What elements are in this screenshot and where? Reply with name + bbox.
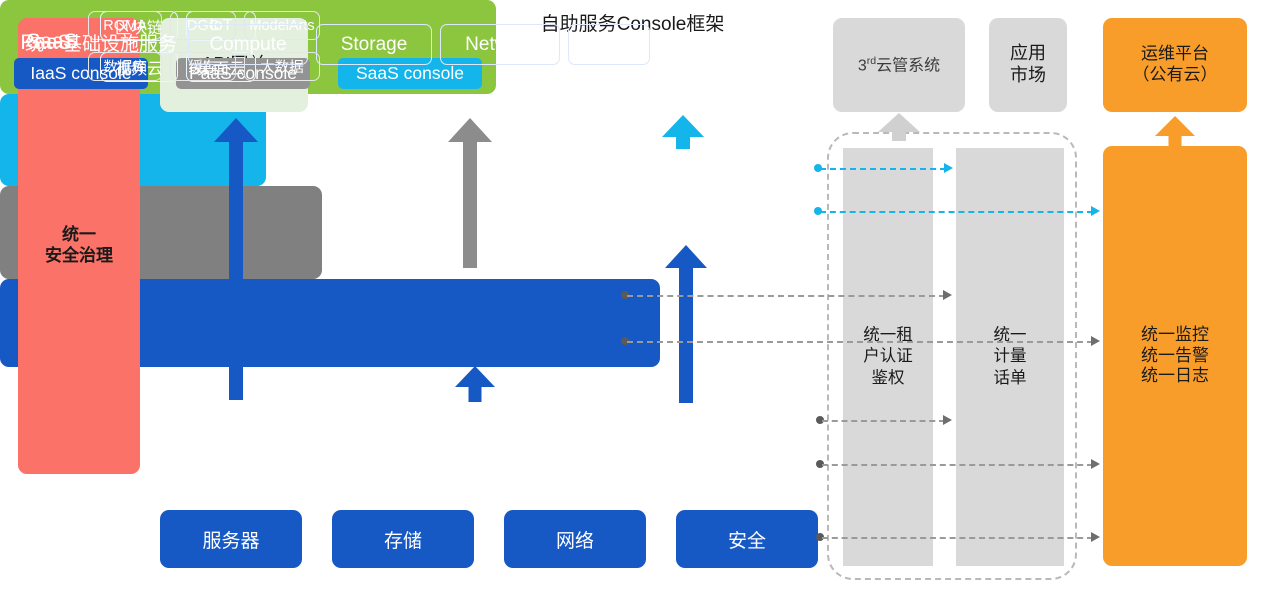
third-party-suffix: 云管系统 (876, 57, 940, 74)
metering-line2: 计量 (994, 346, 1027, 367)
resource-box-security: 安全 (676, 510, 818, 568)
connector-head-infra-ops (1091, 459, 1100, 469)
arrow-saas-to-console (662, 115, 704, 149)
arrow-infra-to-saas (665, 245, 707, 403)
resource-box-storage: 存储 (332, 510, 474, 568)
resource-security-label: 安全 (728, 526, 766, 553)
infra-chip-network-label: Network (465, 34, 535, 56)
ops-platform-public-cloud-box: 运维平台 （公有云） (1103, 18, 1247, 112)
resource-box-network: 网络 (504, 510, 646, 568)
connector-saas-to-metering (820, 168, 946, 170)
third-party-cloud-mgmt-label: 3rd云管系统 (858, 55, 940, 76)
paas-chip-database-label: 数据库 (103, 56, 147, 77)
arrow-infra-to-paas (455, 366, 495, 402)
connector-infra-to-auth (822, 420, 945, 422)
infra-chip-compute-label: Compute (209, 34, 286, 56)
resource-network-label: 网络 (556, 526, 594, 553)
ops-panel-line2: 统一告警 (1141, 346, 1209, 367)
metering-line1: 统一 (994, 325, 1027, 346)
paas-chip-database[interactable]: 数据库 (88, 52, 162, 81)
infra-chip-cce-label: CCE (589, 34, 629, 56)
connector-resources-to-ops (822, 537, 1093, 539)
saas-console-label: SaaS console (356, 63, 464, 84)
infra-chip-compute[interactable]: Compute (188, 24, 308, 65)
tenant-auth-line2: 户认证 (863, 346, 913, 367)
connector-head-resources-ops (1091, 532, 1100, 542)
resource-server-label: 服务器 (202, 526, 259, 553)
connector-head-saas-ops (1091, 206, 1100, 216)
infra-chip-storage-label: Storage (341, 34, 408, 56)
security-governance-line2: 安全治理 (45, 246, 113, 267)
resource-box-server: 服务器 (160, 510, 302, 568)
arrow-platform-to-third-cloud (878, 113, 920, 141)
app-market-line1: 应用 (1010, 43, 1046, 65)
ops-panel-line3: 统一日志 (1141, 366, 1209, 387)
connector-infra-to-ops (822, 464, 1093, 466)
connector-saas-to-ops (820, 211, 1093, 213)
connector-head-paas-auth (943, 290, 952, 300)
arrow-ops-panel-to-ops-top (1155, 116, 1195, 148)
third-party-cloud-mgmt-box: 3rd云管系统 (833, 18, 965, 112)
unified-infrastructure-label: 统一基础设施服务 (14, 29, 188, 56)
arrow-paas-to-console (448, 118, 492, 268)
ops-platform-line1: 运维平台 (1133, 44, 1218, 65)
connector-head-infra-auth (943, 415, 952, 425)
connector-head-saas-metering (944, 163, 953, 173)
connector-paas-to-auth (627, 295, 945, 297)
architecture-diagram: 统一 安全治理 API网关 自助服务Console框架 IaaS console… (0, 0, 1265, 605)
tenant-auth-line1: 统一租 (863, 325, 913, 346)
app-market-line2: 市场 (1010, 65, 1046, 87)
arrow-infra-to-api-gateway (214, 118, 258, 400)
metering-line3: 话单 (994, 368, 1027, 389)
ops-platform-line2: （公有云） (1133, 65, 1218, 86)
infra-chip-storage[interactable]: Storage (316, 24, 432, 65)
ops-panel-line1: 统一监控 (1141, 325, 1209, 346)
unified-monitoring-panel: 统一监控 统一告警 统一日志 (1103, 146, 1247, 566)
tenant-auth-line3: 鉴权 (863, 368, 913, 389)
third-party-prefix: 3 (858, 57, 867, 74)
infra-chip-cce[interactable]: CCE (568, 24, 650, 65)
connector-head-paas-ops (1091, 336, 1100, 346)
connector-paas-to-ops (627, 341, 1093, 343)
third-party-ordinal-sup: rd (867, 55, 876, 67)
resource-storage-label: 存储 (384, 526, 422, 553)
infra-chip-network[interactable]: Network (440, 24, 560, 65)
app-market-box: 应用 市场 (989, 18, 1067, 112)
security-governance-line1: 统一 (45, 225, 113, 246)
